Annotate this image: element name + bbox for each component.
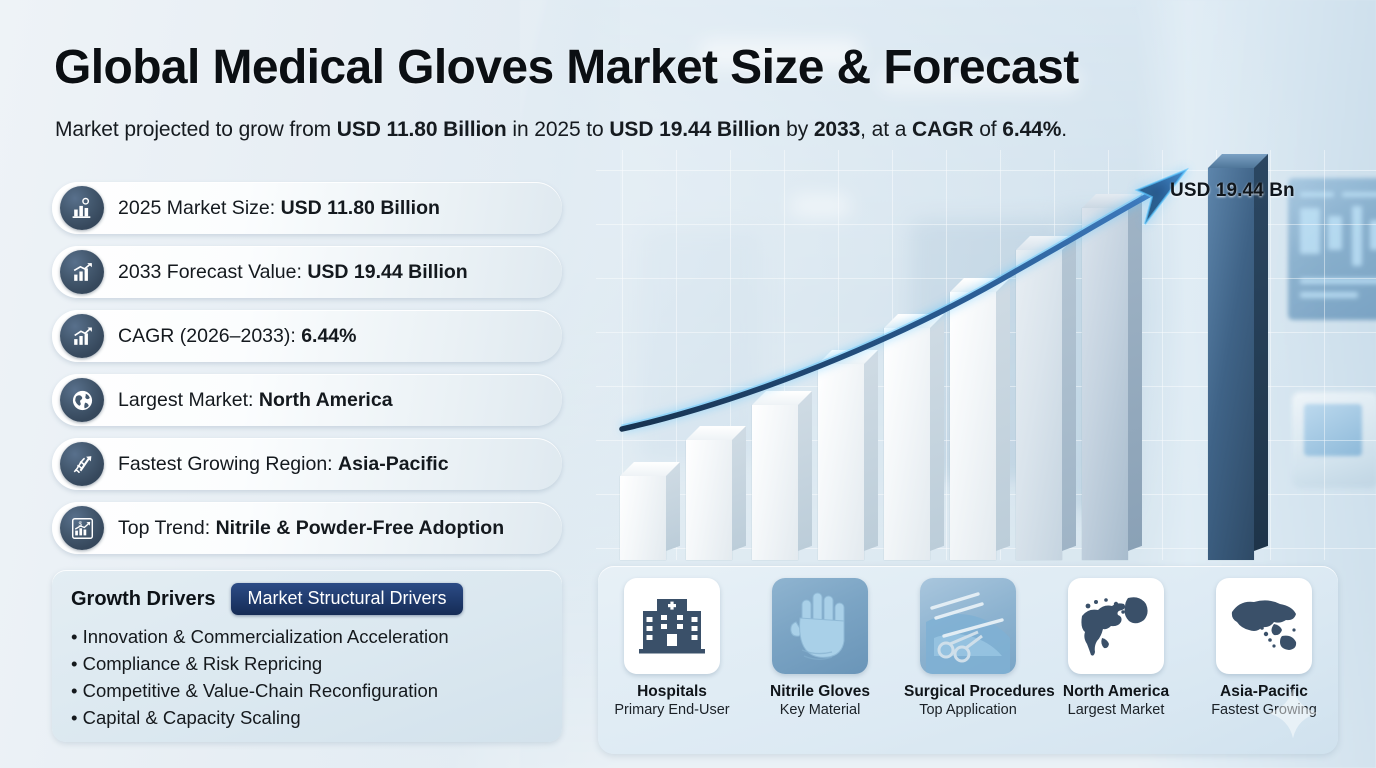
growth-driver-item: Innovation & Commercialization Accelerat… xyxy=(71,623,562,650)
metric-pill-market-size-2025[interactable]: 2025 Market Size: USD 11.80 Billion xyxy=(52,182,562,234)
bar-chart-icon xyxy=(60,186,104,230)
card-label: North America xyxy=(1052,683,1180,701)
metric-pill-text: Fastest Growing Region: Asia-Pacific xyxy=(118,453,449,476)
growth-trend-arrow xyxy=(596,150,1376,560)
highlight-card-surgical-procedures[interactable]: Surgical Procedures Top Application xyxy=(904,578,1032,718)
metric-pill-text: CAGR (2026–2033): 6.44% xyxy=(118,325,356,348)
metric-pill-top-trend[interactable]: $ Top Trend: Nitrile & Powder-Free Adopt… xyxy=(52,502,562,554)
globe-icon xyxy=(60,378,104,422)
metric-pill-text: 2033 Forecast Value: USD 19.44 Billion xyxy=(118,261,468,284)
metric-pill-cagr[interactable]: CAGR (2026–2033): 6.44% xyxy=(52,310,562,362)
card-label: Nitrile Gloves xyxy=(756,683,884,701)
card-sublabel: Primary End-User xyxy=(608,702,736,718)
rocket-growth-icon xyxy=(60,442,104,486)
hospital-icon xyxy=(624,578,720,674)
asia-pacific-map-icon xyxy=(1216,578,1312,674)
key-metrics-list: 2025 Market Size: USD 11.80 Billion 2033… xyxy=(52,182,562,566)
highlight-card-hospitals[interactable]: Hospitals Primary End-User xyxy=(608,578,736,718)
growth-drivers-title: Growth Drivers xyxy=(71,588,215,611)
highlight-cards-strip: Hospitals Primary End-User xyxy=(598,566,1338,754)
bar-chart xyxy=(596,150,1376,560)
surgical-tools-icon xyxy=(920,578,1016,674)
card-sublabel: Key Material xyxy=(756,702,884,718)
metric-pill-forecast-2033[interactable]: 2033 Forecast Value: USD 19.44 Billion xyxy=(52,246,562,298)
north-america-map-icon xyxy=(1068,578,1164,674)
dollar-chart-icon: $ xyxy=(60,506,104,550)
metric-pill-text: Largest Market: North America xyxy=(118,389,393,412)
metric-pill-text: Top Trend: Nitrile & Powder-Free Adoptio… xyxy=(118,517,504,540)
growth-driver-item: Competitive & Value-Chain Reconfiguratio… xyxy=(71,677,562,704)
growth-chart-icon xyxy=(60,250,104,294)
chart-value-annotation: USD 19.44 Bn xyxy=(1170,180,1295,202)
card-sublabel: Top Application xyxy=(904,702,1032,718)
highlight-card-nitrile-gloves[interactable]: Nitrile Gloves Key Material xyxy=(756,578,884,718)
metric-pill-fastest-region[interactable]: Fastest Growing Region: Asia-Pacific xyxy=(52,438,562,490)
metric-pill-largest-market[interactable]: Largest Market: North America xyxy=(52,374,562,426)
card-sublabel: Largest Market xyxy=(1052,702,1180,718)
trend-up-icon xyxy=(60,314,104,358)
growth-driver-item: Capital & Capacity Scaling xyxy=(71,704,562,731)
growth-drivers-panel: Growth Drivers Market Structural Drivers… xyxy=(52,570,562,742)
infographic-canvas: USD 19.44 Bn Global Medical Gloves Marke… xyxy=(0,0,1376,768)
page-title: Global Medical Gloves Market Size & Fore… xyxy=(54,40,1079,95)
growth-drivers-list: Innovation & Commercialization Accelerat… xyxy=(52,623,562,731)
card-label: Surgical Procedures xyxy=(904,683,1032,701)
growth-driver-item: Compliance & Risk Repricing xyxy=(71,650,562,677)
highlight-card-north-america[interactable]: North America Largest Market xyxy=(1052,578,1180,718)
structural-drivers-badge: Market Structural Drivers xyxy=(231,583,462,615)
page-subtitle: Market projected to grow from USD 11.80 … xyxy=(55,118,1067,142)
growth-drivers-header: Growth Drivers Market Structural Drivers xyxy=(52,570,562,615)
nitrile-glove-icon xyxy=(772,578,868,674)
card-label: Hospitals xyxy=(608,683,736,701)
metric-pill-text: 2025 Market Size: USD 11.80 Billion xyxy=(118,197,440,220)
sparkle-decoration xyxy=(1266,686,1320,740)
